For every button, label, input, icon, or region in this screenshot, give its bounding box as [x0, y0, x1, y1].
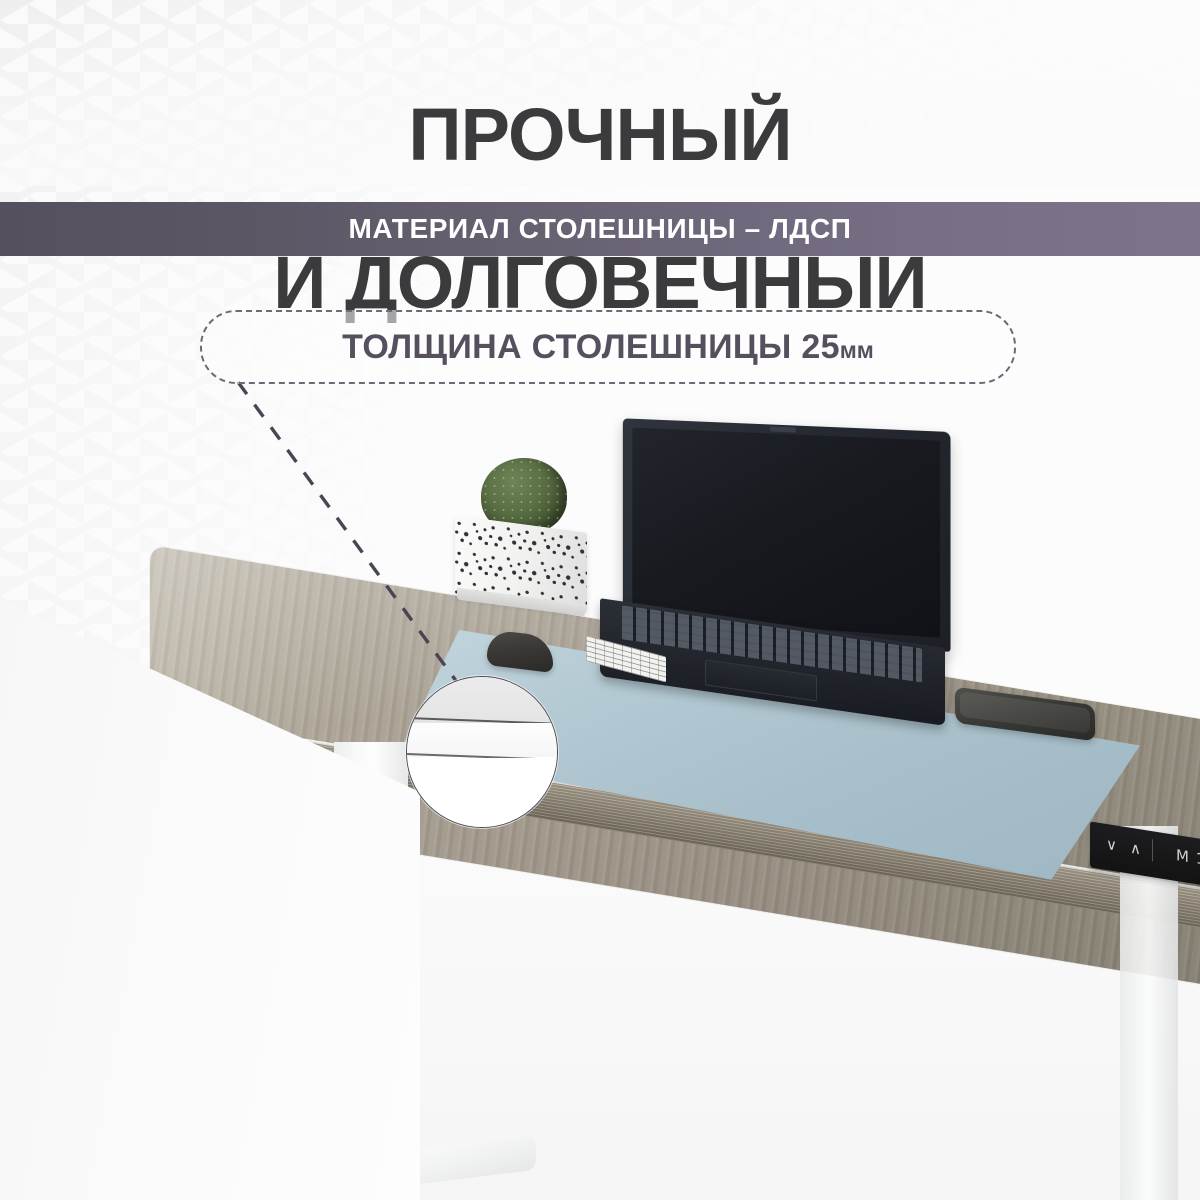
control-divider	[1152, 839, 1153, 861]
zoom-top-surface	[407, 677, 557, 723]
preset-labels: M 1 2 3	[1176, 846, 1200, 874]
laptop-screen	[632, 428, 940, 638]
thickness-value: 25	[801, 328, 839, 366]
headline-line-2: И ДОЛГОВЕЧНЫЙ	[0, 247, 1200, 318]
zoom-edge-band	[407, 723, 557, 757]
thickness-label: ТОЛЩИНА СТОЛЕШНИЦЫ	[342, 328, 791, 366]
thickness-callout-text: ТОЛЩИНА СТОЛЕШНИЦЫ 25мм	[342, 328, 874, 367]
planter-with-cactus	[455, 510, 587, 615]
zoom-underside	[407, 758, 557, 828]
material-banner: МАТЕРИАЛ СТОЛЕШНИЦЫ – ЛДСП	[0, 202, 1200, 256]
laptop	[600, 425, 945, 700]
chevron-up-icon: ∧	[1130, 839, 1142, 859]
laptop-trackpad	[705, 659, 817, 701]
thickness-unit: мм	[840, 337, 874, 363]
promo-banner-image: ∨ ∧ M 1 2 3 ПРОЧНЫЙ И ДОЛГОВЕЧНЫЙ МАТЕРИ…	[0, 0, 1200, 1200]
webcam-icon	[770, 426, 796, 432]
chevron-down-icon: ∨	[1106, 835, 1118, 855]
desk-leg-right	[1120, 826, 1178, 1200]
material-banner-text: МАТЕРИАЛ СТОЛЕШНИЦЫ – ЛДСП	[348, 213, 851, 245]
thickness-callout: ТОЛЩИНА СТОЛЕШНИЦЫ 25мм	[200, 310, 1016, 384]
headline-line-1: ПРОЧНЫЙ	[0, 99, 1200, 170]
edge-thickness-zoom-icon	[406, 676, 558, 828]
